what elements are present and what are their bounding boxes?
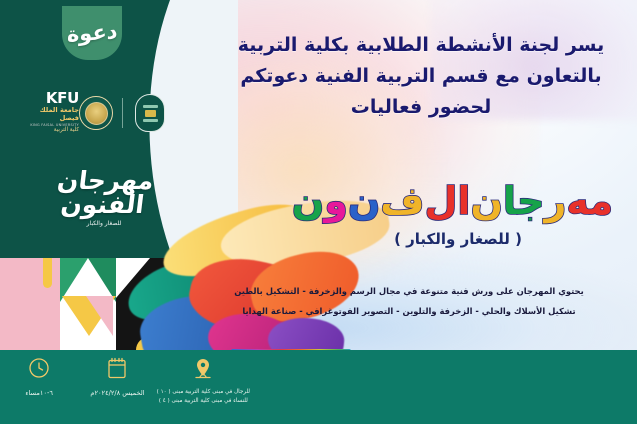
info-location-text: للرجال في مبنى كلية التربية مبنى ( ١٠ ) … (157, 388, 250, 405)
event-poster: دعوة KFU جامعة الملك فيصل KING FAISAL UN… (0, 0, 637, 424)
clock-icon (27, 355, 51, 381)
kfu-text-block: KFU جامعة الملك فيصل KING FAISAL UNIVERS… (28, 91, 79, 135)
info-location-line-2: للنساء في مبنى كلية التربية مبنى ( ٤ ) (157, 397, 250, 406)
dawa-invitation-badge: دعوة (62, 6, 122, 60)
festival-title-part-9: ن (292, 182, 324, 220)
info-time-text: ٦-١٠مساء (25, 388, 53, 398)
calendar-icon (106, 355, 128, 381)
info-item-time: ٦-١٠مساء (0, 350, 78, 424)
festival-logo-sub: للصغار والكبار (48, 220, 160, 227)
geo-yellow-drip (43, 258, 52, 288)
festival-logo-main: مهرجان الفنون (45, 169, 163, 217)
festival-title-part-0: مه (566, 182, 613, 220)
kfu-seal-icon (79, 96, 113, 130)
info-item-location: للرجال في مبنى كلية التربية مبنى ( ١٠ ) … (157, 350, 250, 424)
kfu-acronym: KFU (46, 91, 79, 106)
description-text: يحتوي المهرجان على ورش فنية متنوعة في مج… (199, 282, 619, 322)
kfu-seal-inner (85, 102, 108, 125)
description-line-2: تشكيل الأسلاك والحلي - الزخرفة والتلوين … (199, 302, 619, 322)
crest-bar-mid (145, 110, 156, 117)
info-item-date: الخميس ٢٠٢٤/٢/٨م (78, 350, 156, 424)
festival-title-part-7: ن (348, 182, 380, 220)
headline-text: يسر لجنة الأنشطة الطلابية بكلية التربية … (221, 30, 621, 122)
festival-title-part-6: ف (380, 182, 424, 220)
festival-calligraphy-logo: مهرجان الفنون للصغار والكبار (48, 162, 160, 234)
festival-title: مهرجان الفنون (303, 182, 613, 220)
headline-line-1: يسر لجنة الأنشطة الطلابية بكلية التربية (221, 30, 621, 61)
location-pin-icon (192, 355, 214, 381)
faculty-crest-icon (132, 91, 168, 135)
headline-line-3: لحضور فعاليات (221, 92, 621, 123)
geo-tile-triangles (60, 258, 116, 350)
geo-triangle-pink (86, 296, 113, 336)
event-info-bar: ٦-١٠مساء الخميس ٢٠٢٤/٢/٨م (0, 350, 637, 424)
description-line-1: يحتوي المهرجان على ورش فنية متنوعة في مج… (199, 282, 619, 302)
kfu-arabic-name: جامعة الملك فيصل (28, 106, 79, 123)
festival-title-part-5: ال (424, 182, 470, 220)
dawa-badge-label: دعوة (66, 19, 117, 47)
info-date-text: الخميس ٢٠٢٤/٢/٨م (90, 388, 144, 398)
info-location-line-1: للرجال في مبنى كلية التربية مبنى ( ١٠ ) (157, 388, 250, 397)
faculty-name: كلية التربية (54, 127, 79, 135)
festival-title-part-8: و (324, 182, 348, 220)
crest-bar-top (143, 105, 158, 108)
university-logo-row: KFU جامعة الملك فيصل KING FAISAL UNIVERS… (28, 90, 168, 136)
crest-bar-bottom (143, 119, 158, 122)
festival-title-part-1: ر (545, 182, 567, 220)
info-items-container: ٦-١٠مساء الخميس ٢٠٢٤/٢/٨م (0, 350, 250, 424)
crest-shield (135, 94, 165, 132)
festival-title-part-2: جا (503, 182, 545, 220)
festival-title-part-3: ن (470, 182, 502, 220)
festival-subtitle: ( للصغار والكبار ) (303, 230, 613, 248)
info-time-line-1: ٦-١٠مساء (25, 388, 53, 398)
logo-divider (122, 98, 123, 128)
info-date-line-1: الخميس ٢٠٢٤/٢/٨م (90, 388, 144, 398)
geo-tile-pink (0, 258, 60, 350)
headline-line-2: بالتعاون مع قسم التربية الفنية دعوتكم (221, 61, 621, 92)
